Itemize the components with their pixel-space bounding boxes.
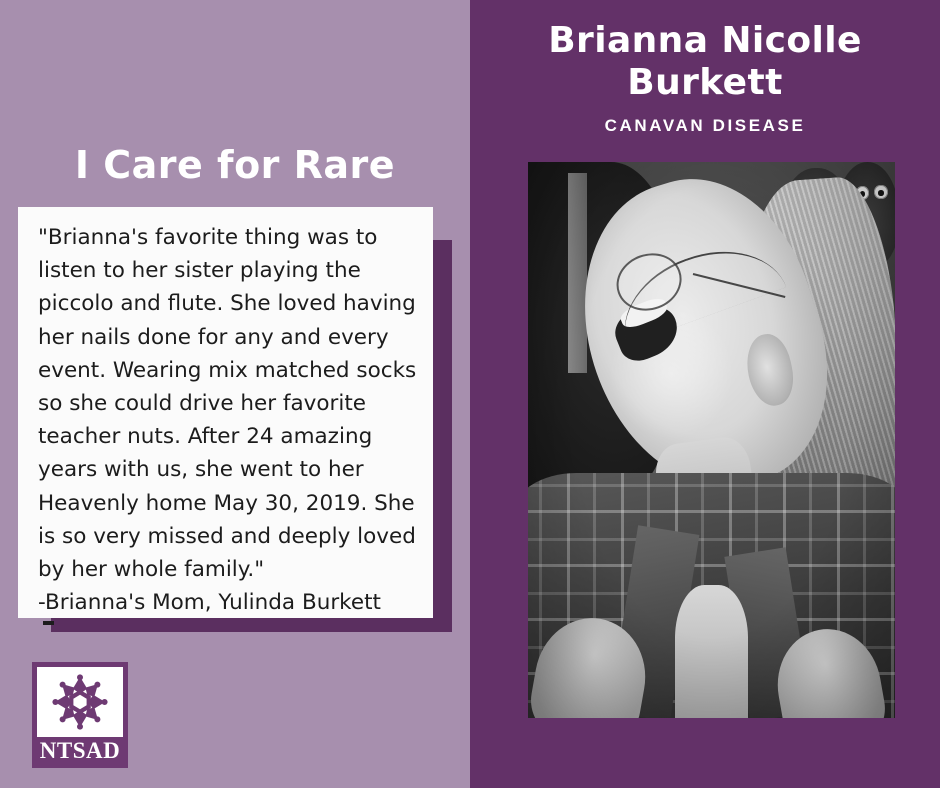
ntsad-logo[interactable]: NTSAD — [32, 662, 128, 768]
portrait-photo-canvas — [528, 162, 895, 718]
poster-canvas: Brianna Nicolle Burkett CANAVAN DISEASE — [0, 0, 940, 788]
ntsad-wordmark: NTSAD — [37, 737, 123, 765]
ntsad-star-emblem — [50, 672, 110, 732]
campaign-title: I Care for Rare — [0, 143, 470, 187]
quote-text: "Brianna's favorite thing was to listen … — [18, 207, 433, 618]
portrait-photo — [528, 162, 895, 718]
ntsad-emblem-container — [37, 667, 123, 737]
person-name-heading: Brianna Nicolle Burkett — [470, 20, 940, 105]
quote-overflow-dash — [43, 621, 54, 625]
photo-vignette — [528, 162, 895, 718]
diagnosis-label: CANAVAN DISEASE — [470, 116, 940, 136]
quote-card: "Brianna's favorite thing was to listen … — [18, 207, 433, 618]
